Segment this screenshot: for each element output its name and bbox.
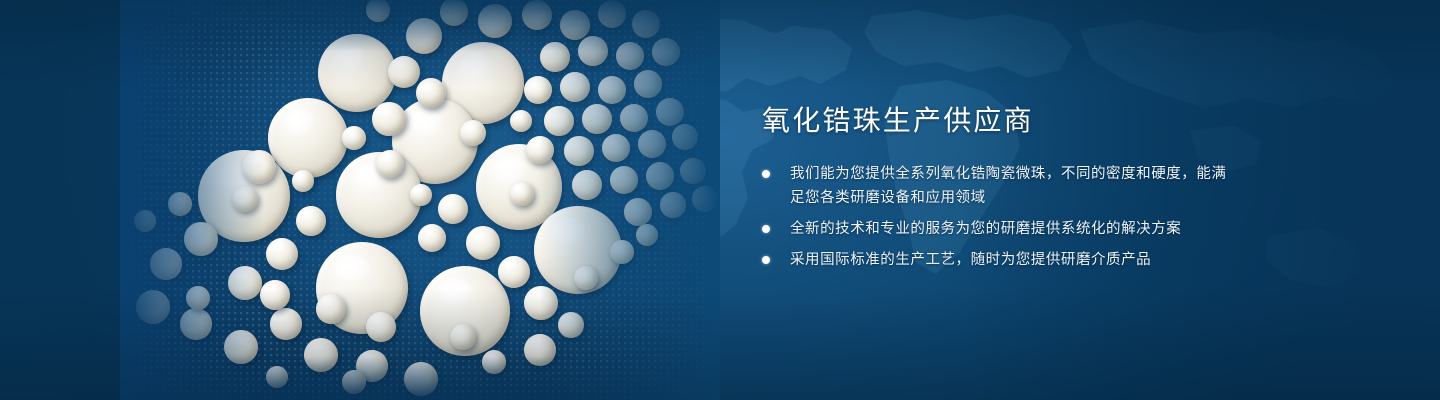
hero-banner: 氧化锆珠生产供应商 我们能为您提供全系列氧化锆陶瓷微珠，不同的密度和硬度，能满足… [0, 0, 1440, 400]
bullet-dot-icon [762, 225, 770, 233]
feature-list: 我们能为您提供全系列氧化锆陶瓷微珠，不同的密度和硬度，能满足您各类研磨设备和应用… [762, 162, 1232, 272]
list-item: 采用国际标准的生产工艺，随时为您提供研磨介质产品 [762, 248, 1232, 272]
list-item-text: 我们能为您提供全系列氧化锆陶瓷微珠，不同的密度和硬度，能满足您各类研磨设备和应用… [790, 166, 1226, 206]
list-item: 我们能为您提供全系列氧化锆陶瓷微珠，不同的密度和硬度，能满足您各类研磨设备和应用… [762, 162, 1232, 210]
page-title: 氧化锆珠生产供应商 [762, 104, 1232, 138]
bullet-dot-icon [762, 170, 770, 178]
list-item-text: 采用国际标准的生产工艺，随时为您提供研磨介质产品 [790, 252, 1151, 268]
banner-content: 氧化锆珠生产供应商 我们能为您提供全系列氧化锆陶瓷微珠，不同的密度和硬度，能满足… [762, 104, 1232, 272]
list-item-text: 全新的技术和专业的服务为您的研磨提供系统化的解决方案 [790, 221, 1181, 237]
bullet-dot-icon [762, 256, 770, 264]
list-item: 全新的技术和专业的服务为您的研磨提供系统化的解决方案 [762, 217, 1232, 241]
